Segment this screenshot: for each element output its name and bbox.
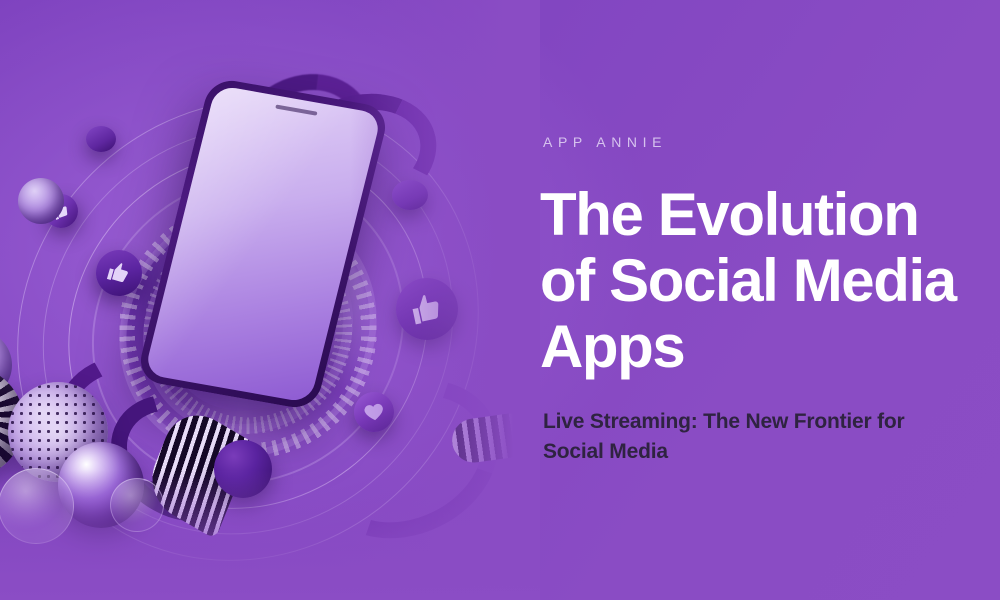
subtitle: Live Streaming: The New Frontier for Soc… [543,407,925,467]
hero-text-column: APP ANNIE The Evolution of Social Media … [543,0,983,600]
decorative-sphere [214,440,272,498]
page-title: The Evolution of Social Media Apps [540,182,986,380]
reaction-disc-icon [392,180,428,210]
reaction-disc-icon [86,126,116,152]
hero-illustration [0,0,540,600]
brand-eyebrow: APP ANNIE [543,134,667,150]
glass-sphere [0,468,74,544]
promo-banner: APP ANNIE The Evolution of Social Media … [0,0,1000,600]
decorative-sphere [18,178,64,224]
phone-speaker-icon [275,105,317,116]
glass-sphere [110,478,164,532]
